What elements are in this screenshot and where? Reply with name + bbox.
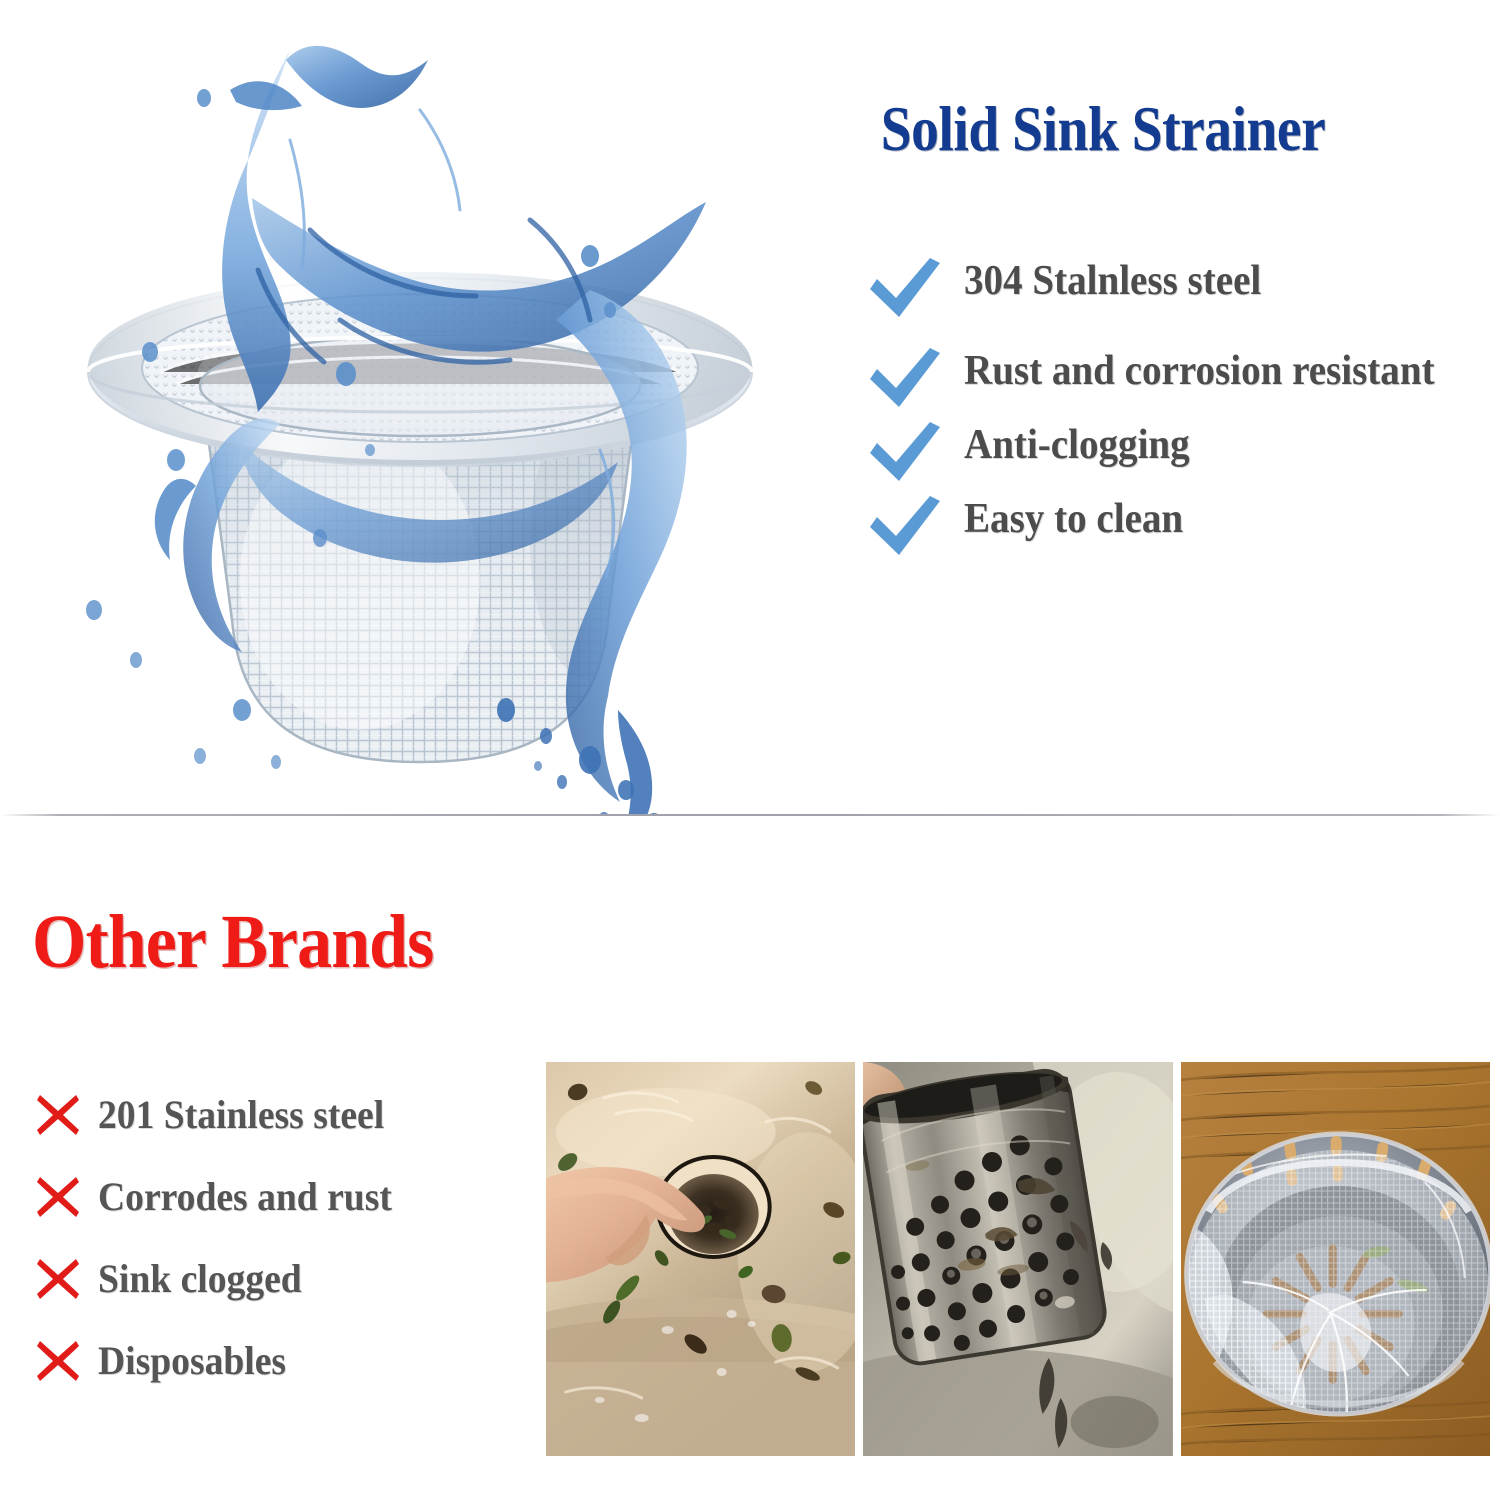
con-label: Disposables: [98, 1339, 527, 1383]
page-title: Solid Sink Strainer: [764, 96, 1442, 162]
feature-label: 304 Stalnless steel: [964, 252, 1462, 312]
photo-rusted-strainer-basket: [863, 1062, 1172, 1456]
product-highlight-section: Solid Sink Strainer 304 Stalnless steel …: [0, 0, 1500, 816]
x-icon: [34, 1173, 98, 1221]
feature-label: Easy to clean: [964, 490, 1462, 550]
check-icon: [868, 342, 964, 410]
x-icon: [34, 1091, 98, 1139]
section-heading-other-brands: Other Brands: [32, 904, 433, 980]
con-label: Sink clogged: [98, 1257, 527, 1301]
feature-label: Rust and corrosion resistant: [964, 342, 1462, 402]
x-icon: [34, 1255, 98, 1303]
feature-label: Anti-clogging: [964, 416, 1462, 476]
check-icon: [868, 252, 964, 320]
product-hero-image: [0, 20, 850, 920]
feature-item-rust-corrosion-resistant: Rust and corrosion resistant: [868, 342, 1500, 410]
con-label: 201 Stainless steel: [98, 1093, 527, 1137]
cons-list: 201 Stainless steel Corrodes and rust Si…: [34, 1074, 554, 1402]
comparison-photo-strip: [546, 1062, 1490, 1456]
con-label: Corrodes and rust: [98, 1175, 527, 1219]
feature-item-304-stainless-steel: 304 Stalnless steel: [868, 252, 1500, 324]
check-icon: [868, 416, 964, 484]
con-item-disposables: Disposables: [34, 1320, 554, 1402]
other-brands-section: Other Brands 201 Stainless steel Corrode…: [0, 816, 1500, 1500]
photo-disposable-mesh-net-strainer: [1181, 1062, 1490, 1456]
x-icon: [34, 1337, 98, 1385]
con-item-corrodes-and-rust: Corrodes and rust: [34, 1156, 554, 1238]
feature-item-easy-to-clean: Easy to clean: [868, 490, 1500, 558]
con-item-201-stainless-steel: 201 Stainless steel: [34, 1074, 554, 1156]
photo-clogged-sink-drain: [546, 1062, 855, 1456]
feature-item-anti-clogging: Anti-clogging: [868, 416, 1500, 484]
check-icon: [868, 490, 964, 558]
feature-list: 304 Stalnless steel Rust and corrosion r…: [868, 252, 1500, 564]
con-item-sink-clogged: Sink clogged: [34, 1238, 554, 1320]
